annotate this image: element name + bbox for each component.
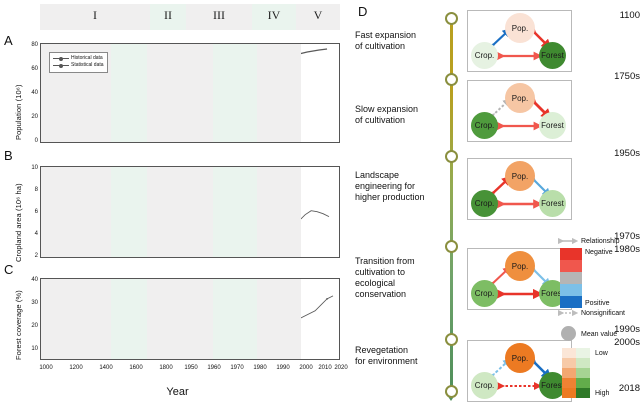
panel-a-letter: A	[4, 33, 13, 48]
period-label-2: II	[150, 4, 186, 26]
legend-item-historical: Historical data	[53, 55, 104, 62]
panel-c-ytick-30: 30	[22, 300, 38, 306]
panel-b-plot	[40, 166, 340, 258]
green-ramp-3	[576, 368, 590, 378]
legend-positive-label: Positive	[585, 300, 610, 307]
panel-b-ytick-4: 4	[22, 231, 38, 237]
period-label-3: III	[186, 4, 252, 26]
period-label-1: I	[40, 4, 150, 26]
orange-ramp-2	[562, 358, 576, 368]
panel-a-ytick-60: 60	[22, 66, 38, 72]
legend-negative-label: Negative	[585, 249, 613, 256]
legend-scale-positive-weak	[560, 284, 582, 296]
panel-a-ytick-80: 80	[22, 42, 38, 48]
panel-b-ytick-10: 10	[22, 165, 38, 171]
period-label-5: V	[296, 4, 340, 26]
green-ramp-5	[576, 388, 590, 398]
nonsignificant-arrow-icon	[558, 309, 578, 317]
timeline-region: D 1100 1750s 1950s 1970s 1980s 1990s 200…	[355, 0, 640, 411]
legend-low-label: Low	[595, 350, 608, 357]
legend-label-statistical: Statistical data	[71, 62, 104, 69]
panel-c-ytick-20: 20	[22, 323, 38, 329]
figure-legend: Relationship Negative Positive Nonsignif…	[355, 0, 640, 411]
green-ramp-2	[576, 358, 590, 368]
panel-c-ytick-10: 10	[22, 346, 38, 352]
green-ramp-4	[576, 378, 590, 388]
period-label-4: IV	[252, 4, 296, 26]
legend-label-historical: Historical data	[71, 55, 103, 62]
figure-root: I II III IV V A Population (10⁶) 80 60 4…	[0, 0, 640, 411]
legend-high-label: High	[595, 390, 609, 397]
orange-ramp-5	[562, 388, 576, 398]
historical-line-icon	[53, 56, 69, 61]
xtick-2020: 2020	[326, 365, 356, 371]
legend-relationship-label: Relationship	[581, 238, 620, 245]
period-label-row: I II III IV V	[40, 4, 340, 30]
panel-b-ytick-6: 6	[22, 209, 38, 215]
panel-a-ytick-40: 40	[22, 90, 38, 96]
xtick-1200: 1200	[61, 365, 91, 371]
panel-b-ytick-2: 2	[22, 253, 38, 259]
legend-scale-negative-weak	[560, 260, 582, 272]
panel-b-ylabel: Cropland area (10⁶ ha)	[14, 183, 23, 262]
orange-ramp-3	[562, 368, 576, 378]
xtick-1600: 1600	[121, 365, 151, 371]
panel-c-letter: C	[4, 262, 13, 277]
xtick-1000: 1000	[31, 365, 61, 371]
statistical-line-icon	[53, 63, 69, 68]
orange-ramp-1	[562, 348, 576, 358]
legend-scale-negative-strong	[560, 248, 582, 260]
relationship-arrow-icon	[558, 237, 578, 245]
legend-mean-value-label: Mean value	[581, 331, 617, 338]
legend-item-statistical: Statistical data	[53, 62, 104, 69]
panel-c-plot	[40, 278, 340, 360]
panel-a-ytick-0: 0	[22, 138, 38, 144]
panel-c-ytick-40: 40	[22, 277, 38, 283]
legend-nonsignificant-label: Nonsignificant	[581, 310, 625, 317]
panel-b-ytick-8: 8	[22, 187, 38, 193]
xtick-1400: 1400	[91, 365, 121, 371]
line-charts-region: I II III IV V A Population (10⁶) 80 60 4…	[0, 0, 355, 411]
panel-b-letter: B	[4, 148, 13, 163]
panel-a-plot: Historical data Statistical data	[40, 43, 340, 143]
orange-ramp-4	[562, 378, 576, 388]
legend-scale-neutral	[560, 272, 582, 284]
green-ramp-1	[576, 348, 590, 358]
legend-scale-positive-strong	[560, 296, 582, 308]
mean-value-circle-icon	[561, 326, 576, 341]
x-axis-title: Year	[0, 386, 355, 398]
panel-a-ytick-20: 20	[22, 114, 38, 120]
panel-a-legend: Historical data Statistical data	[49, 52, 108, 73]
